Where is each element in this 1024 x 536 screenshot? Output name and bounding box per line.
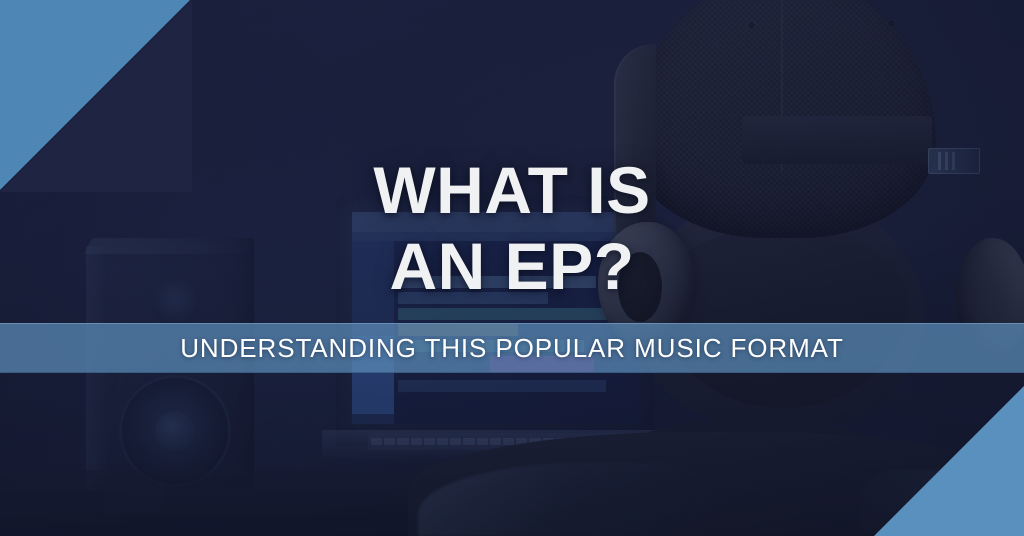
ep-article-hero-banner: WHAT IS AN EP? UNDERSTANDING THIS POPULA… (0, 0, 1024, 536)
page-title: WHAT IS AN EP? (0, 152, 1024, 304)
subtitle-bar: UNDERSTANDING THIS POPULAR MUSIC FORMAT (0, 323, 1024, 373)
subtitle-text: UNDERSTANDING THIS POPULAR MUSIC FORMAT (180, 333, 843, 364)
title-line-2: AN EP? (0, 228, 1024, 304)
title-line-1: WHAT IS (0, 152, 1024, 228)
